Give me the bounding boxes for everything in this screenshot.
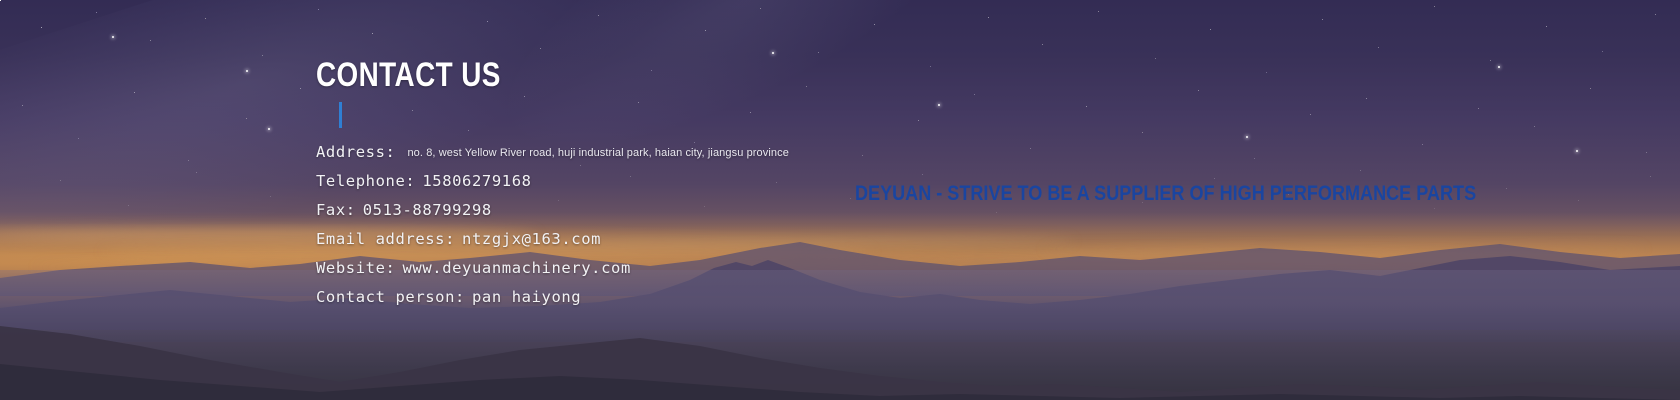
contact-us-banner: CONTACT US Address: no. 8, west Yellow R…	[0, 0, 1680, 400]
contact-row-fax: Fax: 0513-88799298	[316, 201, 1416, 230]
contact-label-website: Website:	[316, 259, 395, 277]
contact-value-address: no. 8, west Yellow River road, huji indu…	[407, 147, 788, 159]
banner-content: CONTACT US Address: no. 8, west Yellow R…	[0, 0, 1680, 400]
contact-details-list: Address: no. 8, west Yellow River road, …	[316, 143, 1416, 317]
company-tagline: DEYUAN - STRIVE TO BE A SUPPLIER OF HIGH…	[855, 183, 1476, 204]
contact-value-fax: 0513-88799298	[363, 201, 492, 219]
contact-value-email[interactable]: ntzgjx@163.com	[462, 230, 601, 248]
contact-label-address: Address:	[316, 143, 395, 161]
contact-value-telephone[interactable]: 15806279168	[422, 172, 531, 190]
title-accent-bar	[339, 102, 342, 128]
contact-row-website: Website: www.deyuanmachinery.com	[316, 259, 1416, 288]
contact-label-fax: Fax:	[316, 201, 356, 219]
contact-value-contact-person: pan haiyong	[472, 288, 581, 306]
contact-row-address: Address: no. 8, west Yellow River road, …	[316, 143, 1416, 172]
contact-label-contact-person: Contact person:	[316, 288, 465, 306]
contact-row-contact-person: Contact person: pan haiyong	[316, 288, 1416, 317]
contact-label-telephone: Telephone:	[316, 172, 415, 190]
page-title: CONTACT US	[316, 58, 501, 92]
contact-row-email: Email address: ntzgjx@163.com	[316, 230, 1416, 259]
contact-label-email: Email address:	[316, 230, 455, 248]
contact-value-website[interactable]: www.deyuanmachinery.com	[402, 259, 630, 277]
